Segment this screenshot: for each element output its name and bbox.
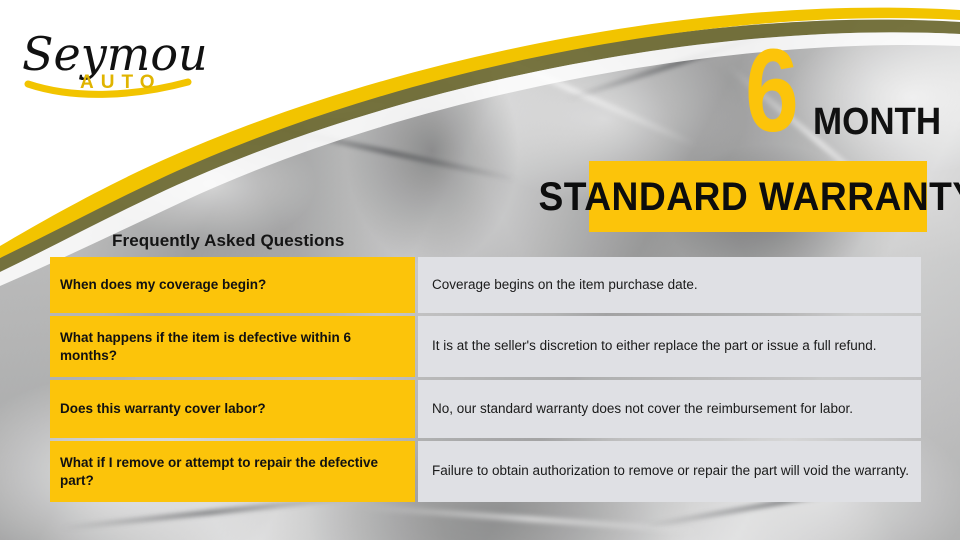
faq-answer: No, our standard warranty does not cover… — [418, 380, 921, 438]
faq-answer: It is at the seller's discretion to eith… — [418, 316, 921, 377]
warranty-slide: Seymour AUTO 6 MONTH STANDARD WARRANTY F… — [0, 0, 960, 540]
brand-sub-text: AUTO — [80, 72, 161, 93]
table-row: What if I remove or attempt to repair th… — [50, 441, 921, 502]
term-number: 6 — [745, 32, 797, 150]
warranty-title: STANDARD WARRANTY — [538, 177, 960, 217]
faq-question: What if I remove or attempt to repair th… — [50, 441, 415, 502]
table-row: Does this warranty cover labor? No, our … — [50, 380, 921, 438]
term-unit: MONTH — [813, 103, 941, 141]
faq-table: When does my coverage begin? Coverage be… — [50, 257, 921, 502]
table-row: When does my coverage begin? Coverage be… — [50, 257, 921, 313]
standard-warranty-banner: STANDARD WARRANTY — [589, 161, 927, 232]
faq-question: When does my coverage begin? — [50, 257, 415, 313]
table-row: What happens if the item is defective wi… — [50, 316, 921, 377]
faq-answer: Failure to obtain authorization to remov… — [418, 441, 921, 502]
faq-answer: Coverage begins on the item purchase dat… — [418, 257, 921, 313]
faq-heading: Frequently Asked Questions — [112, 231, 344, 251]
warranty-term: 6 MONTH — [735, 46, 935, 154]
brand-logo[interactable]: Seymour AUTO — [16, 14, 206, 110]
faq-question: Does this warranty cover labor? — [50, 380, 415, 438]
faq-question: What happens if the item is defective wi… — [50, 316, 415, 377]
